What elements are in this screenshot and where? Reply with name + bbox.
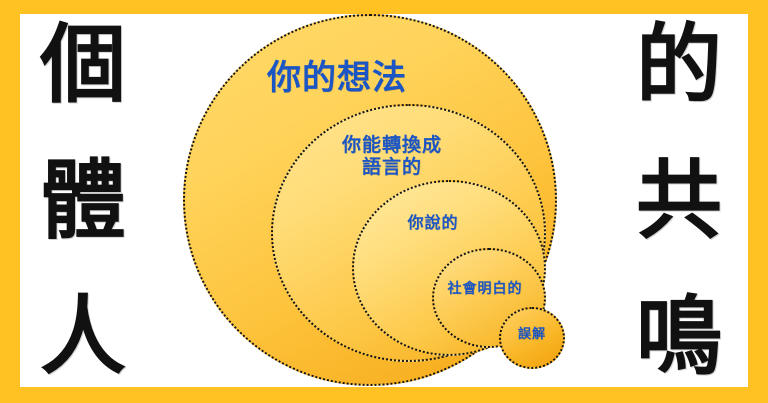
circle-label-your-thoughts: 你的想法 — [232, 58, 442, 98]
circle-label-what-you-said: 你說的 — [378, 214, 488, 233]
circle-label-understood-by-society: 社會明白的 — [420, 281, 550, 298]
diagram-canvas: 個 體 人 的 共 鳴 你的想法 你能轉換成 語言的 你說的 社會明白的 誤解 — [0, 0, 768, 403]
nested-circles-diagram: 你的想法 你能轉換成 語言的 你說的 社會明白的 誤解 — [0, 0, 768, 403]
circle-label-misunderstanding: 誤解 — [500, 327, 564, 342]
circle-label-expressible-in-words: 你能轉換成 語言的 — [322, 134, 462, 179]
